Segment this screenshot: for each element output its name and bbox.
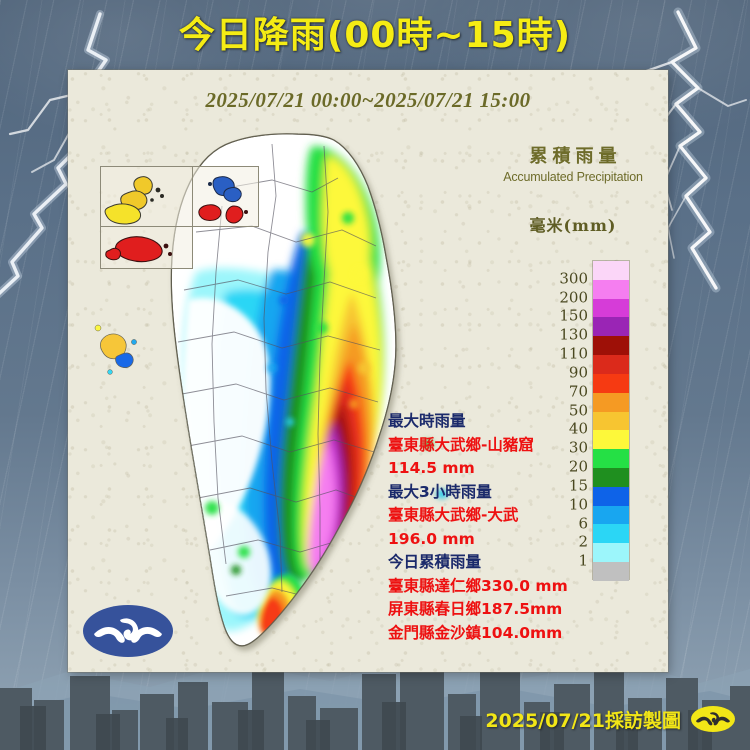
colorbar-tick: 200 bbox=[559, 290, 588, 305]
annotation-line: 臺東縣達仁鄉330.0 mm bbox=[388, 575, 668, 599]
annotation-line: 196.0 mm bbox=[388, 528, 668, 552]
weather-graphic: 今日降雨(00時~15時) 2025/07/21 00:00~2025/07/2… bbox=[0, 0, 750, 750]
colorbar-swatch bbox=[593, 299, 629, 318]
colorbar-tick: 300 bbox=[559, 271, 588, 286]
annotation-line: 臺東縣大武鄉-山豬窟 bbox=[388, 434, 668, 458]
legend-title-en: Accumulated Precipitation bbox=[483, 170, 663, 184]
colorbar-swatch bbox=[593, 393, 629, 412]
colorbar-swatch bbox=[593, 317, 629, 336]
map-panel: 2025/07/21 00:00~2025/07/21 15:00 bbox=[68, 70, 668, 672]
colorbar-tick: 90 bbox=[569, 365, 588, 380]
annotation-line: 最大時雨量 bbox=[388, 410, 668, 434]
colorbar-swatch bbox=[593, 374, 629, 393]
legend-unit-label: 毫米(mm) bbox=[483, 212, 663, 236]
footer-credit-text: 2025/07/21採訪製圖 bbox=[485, 706, 681, 733]
colorbar-tick: 130 bbox=[559, 328, 588, 343]
colorbar-tick: 110 bbox=[559, 347, 588, 362]
annotation-line: 114.5 mm bbox=[388, 457, 668, 481]
annotation-line: 今日累積雨量 bbox=[388, 551, 668, 575]
colorbar-swatch bbox=[593, 355, 629, 374]
cwa-logo-icon bbox=[690, 704, 736, 734]
record-annotations: 最大時雨量臺東縣大武鄉-山豬窟114.5 mm最大3小時雨量臺東縣大武鄉-大武1… bbox=[388, 410, 668, 645]
colorbar-tick: 150 bbox=[559, 309, 588, 324]
colorbar-swatch bbox=[593, 336, 629, 355]
penghu-islets bbox=[95, 325, 137, 374]
colorbar-swatch bbox=[593, 261, 629, 280]
annotation-line: 屏東縣春日鄉187.5mm bbox=[388, 598, 668, 622]
legend-title-cn: 累積雨量 bbox=[483, 142, 663, 168]
annotation-line: 金門縣金沙鎮104.0mm bbox=[388, 622, 668, 646]
footer-credit: 2025/07/21採訪製圖 bbox=[485, 704, 736, 734]
page-title-text: 今日降雨(00時~15時) bbox=[179, 6, 571, 58]
island-insets bbox=[100, 166, 260, 296]
page-title: 今日降雨(00時~15時) bbox=[0, 6, 750, 58]
colorbar-tick: 70 bbox=[569, 384, 588, 399]
legend-header: 累積雨量 Accumulated Precipitation 毫米(mm) bbox=[483, 142, 663, 236]
colorbar-swatch bbox=[593, 280, 629, 299]
annotation-line: 最大3小時雨量 bbox=[388, 481, 668, 505]
annotation-line: 臺東縣大武鄉-大武 bbox=[388, 504, 668, 528]
time-range-label: 2025/07/21 00:00~2025/07/21 15:00 bbox=[68, 88, 668, 113]
cwa-logo-icon bbox=[80, 602, 176, 660]
